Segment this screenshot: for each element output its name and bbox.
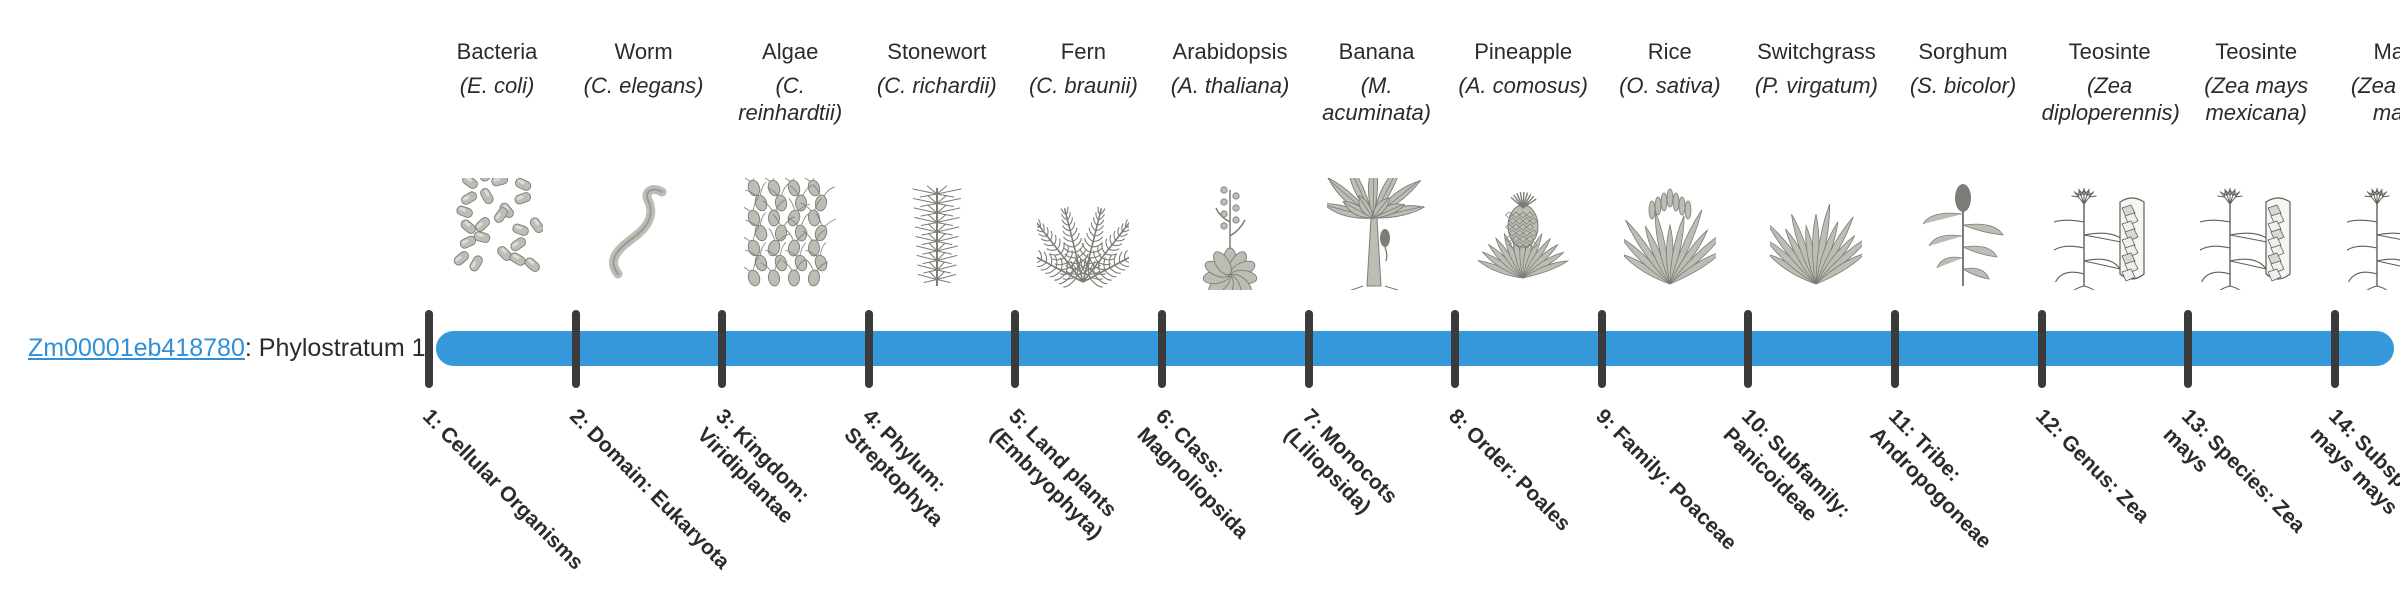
species-column: Sorghum(S. bicolor) 11: Tribe: Andropogo…	[1895, 0, 2031, 580]
phylostratum-tick[interactable]	[718, 310, 726, 388]
teosinte-diploperennis-icon	[2042, 160, 2178, 290]
species-scientific-name: (C. richardii)	[869, 72, 1005, 99]
algae-icon	[722, 160, 858, 290]
species-common-name: Bacteria	[429, 38, 565, 65]
phylostratum-tick[interactable]	[425, 310, 433, 388]
species-column: Pineapple(A. comosus) 8: Order: Poales	[1455, 0, 1591, 580]
species-common-name: Teosinte	[2188, 38, 2324, 65]
species-common-name: Arabidopsis	[1162, 38, 1298, 65]
phylostratum-figure: Zm00001eb418780: Phylostratum 1 Bacteria…	[0, 0, 2400, 580]
species-scientific-name: (O. sativa)	[1602, 72, 1738, 99]
species-scientific-name: (A. thaliana)	[1162, 72, 1298, 99]
phylostratum-tick[interactable]	[1744, 310, 1752, 388]
species-column: Maize(Zea mays mays) 14: Subspecies: Zea…	[2335, 0, 2400, 580]
switchgrass-icon	[1748, 160, 1884, 290]
phylostratum-tick[interactable]	[1305, 310, 1313, 388]
phylostratum-tick[interactable]	[1158, 310, 1166, 388]
phylostratum-tick[interactable]	[1598, 310, 1606, 388]
phylostratum-tick[interactable]	[2331, 310, 2339, 388]
species-scientific-name: (C. elegans)	[576, 72, 712, 99]
phylostratum-tick[interactable]	[2184, 310, 2192, 388]
gene-phylostratum-text: : Phylostratum 1	[245, 334, 426, 362]
species-column: Rice(O. sativa) 9: Family: Poaceae	[1602, 0, 1738, 580]
species-column: Fern(C. braunii) 5: Land plants (Embryop…	[1015, 0, 1151, 580]
species-column: Stonewort(C. richardii) 4: Phylum: Strep…	[869, 0, 1005, 580]
species-common-name: Algae	[722, 38, 858, 65]
species-column: Bacteria(E. coli)	[429, 0, 565, 580]
phylostratum-tick[interactable]	[572, 310, 580, 388]
species-scientific-name: (M. acuminata)	[1309, 72, 1445, 126]
maize-icon	[2335, 160, 2400, 290]
species-common-name: Stonewort	[869, 38, 1005, 65]
species-common-name: Rice	[1602, 38, 1738, 65]
species-scientific-name: (Zea diploperennis)	[2042, 72, 2178, 126]
arabidopsis-icon	[1162, 160, 1298, 290]
species-scientific-name: (C. braunii)	[1015, 72, 1151, 99]
species-column: Worm(C. elegans) 2: Domain: Eukaryota	[576, 0, 712, 580]
teosinte-mexicana-icon	[2188, 160, 2324, 290]
species-column: Arabidopsis(A. thaliana) 6: Class: Magno…	[1162, 0, 1298, 580]
stonewort-icon	[869, 160, 1005, 290]
gene-phylostratum-label: Zm00001eb418780: Phylostratum 1	[28, 333, 448, 363]
species-common-name: Sorghum	[1895, 38, 2031, 65]
species-common-name: Pineapple	[1455, 38, 1591, 65]
species-scientific-name: (A. comosus)	[1455, 72, 1591, 99]
bacteria-icon	[429, 160, 565, 290]
species-column: Banana(M. acuminata) 7	[1309, 0, 1445, 580]
species-common-name: Fern	[1015, 38, 1151, 65]
species-column: Teosinte(Zea diploperennis) 12: Genus: Z…	[2042, 0, 2178, 580]
phylostratum-value: Phylostratum 1	[259, 334, 426, 362]
species-common-name: Worm	[576, 38, 712, 65]
species-common-name: Switchgrass	[1748, 38, 1884, 65]
phylostratum-tick-label: 1: Cellular Organisms	[417, 404, 591, 578]
sorghum-icon	[1895, 160, 2031, 290]
species-scientific-name: (C. reinhardtii)	[722, 72, 858, 126]
phylostratum-tick[interactable]	[1011, 310, 1019, 388]
species-columns: Bacteria(E. coli)	[462, 0, 2368, 580]
species-scientific-name: (P. virgatum)	[1748, 72, 1884, 99]
phylostratum-tick[interactable]	[865, 310, 873, 388]
phylostratum-tick[interactable]	[1891, 310, 1899, 388]
banana-icon	[1309, 160, 1445, 290]
phylostratum-tick[interactable]	[2038, 310, 2046, 388]
species-scientific-name: (Zea mays mays)	[2335, 72, 2400, 126]
pineapple-icon	[1455, 160, 1591, 290]
species-common-name: Maize	[2335, 38, 2400, 65]
species-column: Algae(C. reinhardtii)	[722, 0, 858, 580]
rice-icon	[1602, 160, 1738, 290]
fern-icon	[1015, 160, 1151, 290]
species-scientific-name: (E. coli)	[429, 72, 565, 99]
phylostratum-tick-label: 8: Order: Poales	[1443, 404, 1617, 578]
species-column: Switchgrass(P. virgatum) 10: Subfamily: …	[1748, 0, 1884, 580]
species-common-name: Banana	[1309, 38, 1445, 65]
gene-id-link[interactable]: Zm00001eb418780	[28, 334, 245, 362]
species-scientific-name: (Zea mays mexicana)	[2188, 72, 2324, 126]
species-column: Teosinte(Zea mays mexicana) 13: Species:…	[2188, 0, 2324, 580]
phylostratum-tick[interactable]	[1451, 310, 1459, 388]
species-common-name: Teosinte	[2042, 38, 2178, 65]
species-scientific-name: (S. bicolor)	[1895, 72, 2031, 99]
worm-icon	[576, 160, 712, 290]
